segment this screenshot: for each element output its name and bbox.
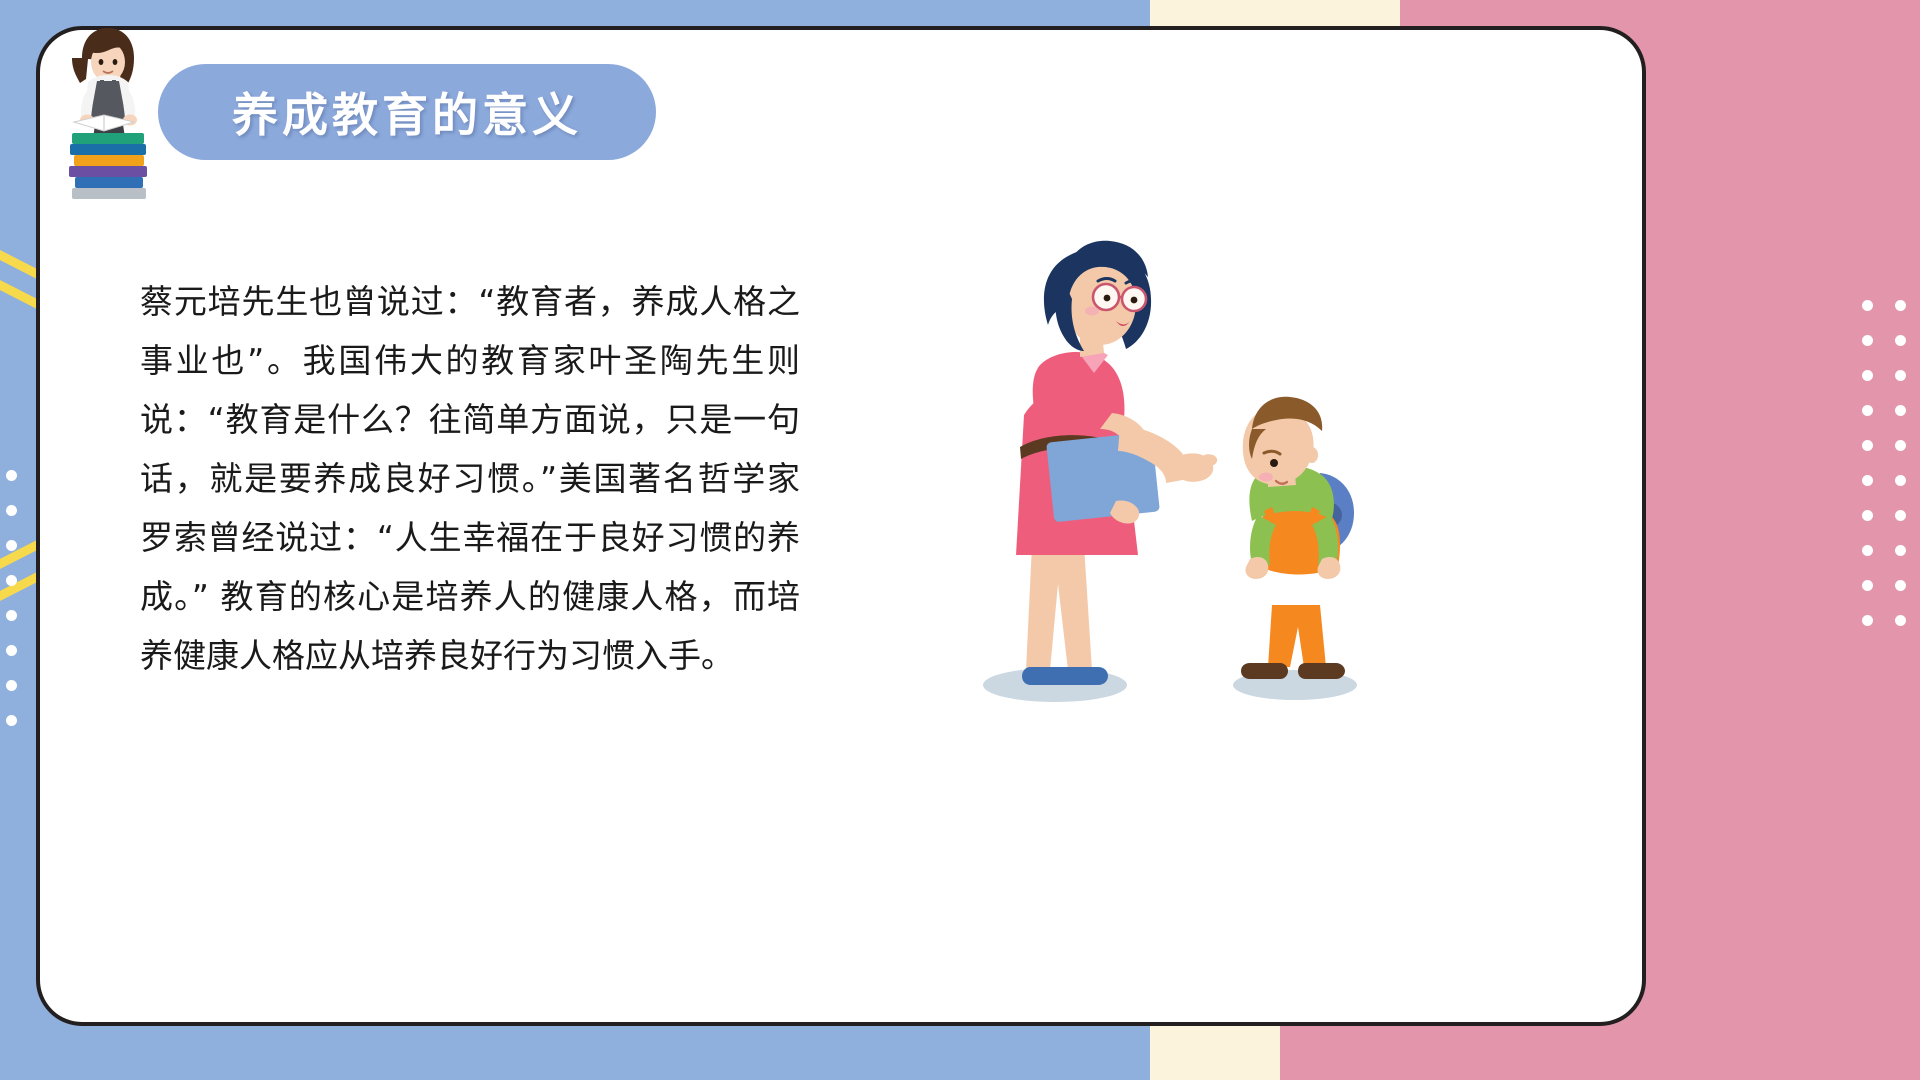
dot [1895,510,1906,521]
girl-reading-on-books-icon [50,18,166,204]
dot [1862,405,1873,416]
page-title: 养成教育的意义 [232,79,582,145]
dot [1895,580,1906,591]
slide-root: 养成教育的意义 蔡元培先生也曾 [0,0,1920,1080]
dot [1895,545,1906,556]
dot [6,680,17,691]
dot [6,715,17,726]
dot [1895,300,1906,311]
dot [6,645,17,656]
dot [1862,440,1873,451]
dot [6,540,17,551]
dot [1862,615,1873,626]
dot [1862,545,1873,556]
dot [1895,405,1906,416]
dot [1895,335,1906,346]
dot [1862,300,1873,311]
dot [1895,475,1906,486]
dot [1862,475,1873,486]
dot [6,610,17,621]
dot [6,575,17,586]
dot [6,505,17,516]
body-paragraph: 蔡元培先生也曾说过：“教育者，养成人格之事业也”。我国伟大的教育家叶圣陶先生则说… [140,272,800,685]
dot-grid-right [1862,300,1906,626]
dot [1862,510,1873,521]
student-figure [1241,397,1354,679]
dot [1895,370,1906,381]
dot [1862,370,1873,381]
slide-title-pill: 养成教育的意义 [158,64,656,160]
dot [6,470,17,481]
dot [1862,580,1873,591]
dot [1862,335,1873,346]
dot [1895,615,1906,626]
teacher-figure [1016,241,1217,685]
teacher-greeting-student-illustration [920,215,1440,735]
dot [1895,440,1906,451]
